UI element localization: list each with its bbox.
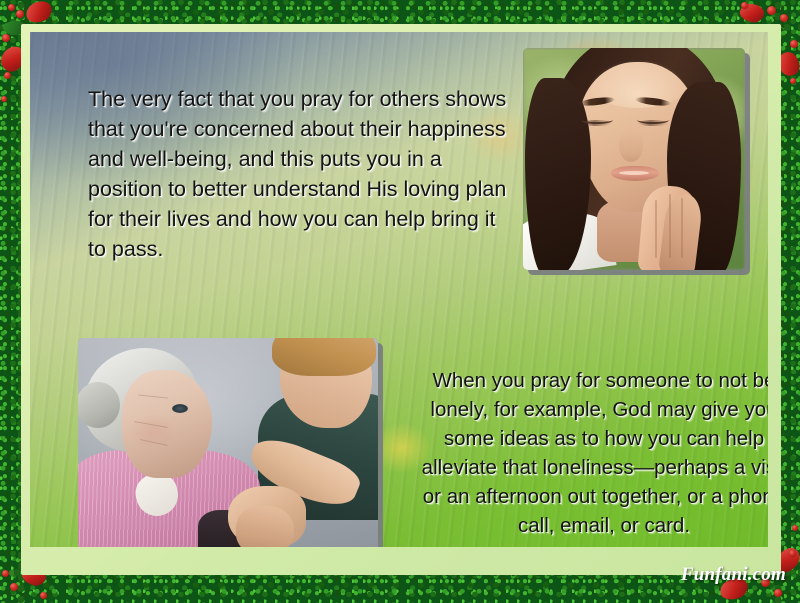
watermark-funfani: Funfani.com xyxy=(681,564,786,586)
quote-card: The very fact that you pray for others s… xyxy=(0,0,800,603)
background-scene: The very fact that you pray for others s… xyxy=(30,32,768,547)
praying-hands-finger-line xyxy=(681,198,683,258)
elderly-woman-hair-bun xyxy=(78,382,120,428)
praying-hands-finger-line xyxy=(655,200,657,258)
praying-woman-nose xyxy=(619,130,643,162)
photo-praying-woman xyxy=(523,48,745,270)
photo-praying-woman-content xyxy=(523,48,745,270)
praying-woman-lash-right xyxy=(638,120,668,126)
praying-woman-lash-left xyxy=(582,120,612,126)
praying-hands-finger-line xyxy=(669,194,671,258)
photo-elderly-care-content xyxy=(78,338,378,547)
elderly-woman-eye xyxy=(172,404,188,413)
praying-woman-lip-highlight xyxy=(619,171,649,175)
caregiver-hair xyxy=(272,338,376,376)
praying-woman-hair-left xyxy=(525,78,591,270)
held-hands-front xyxy=(236,506,294,547)
photo-elderly-care xyxy=(78,338,378,547)
quote-text-bottom: When you pray for someone to not be lone… xyxy=(418,366,768,540)
quote-text-top: The very fact that you pray for others s… xyxy=(88,84,518,264)
